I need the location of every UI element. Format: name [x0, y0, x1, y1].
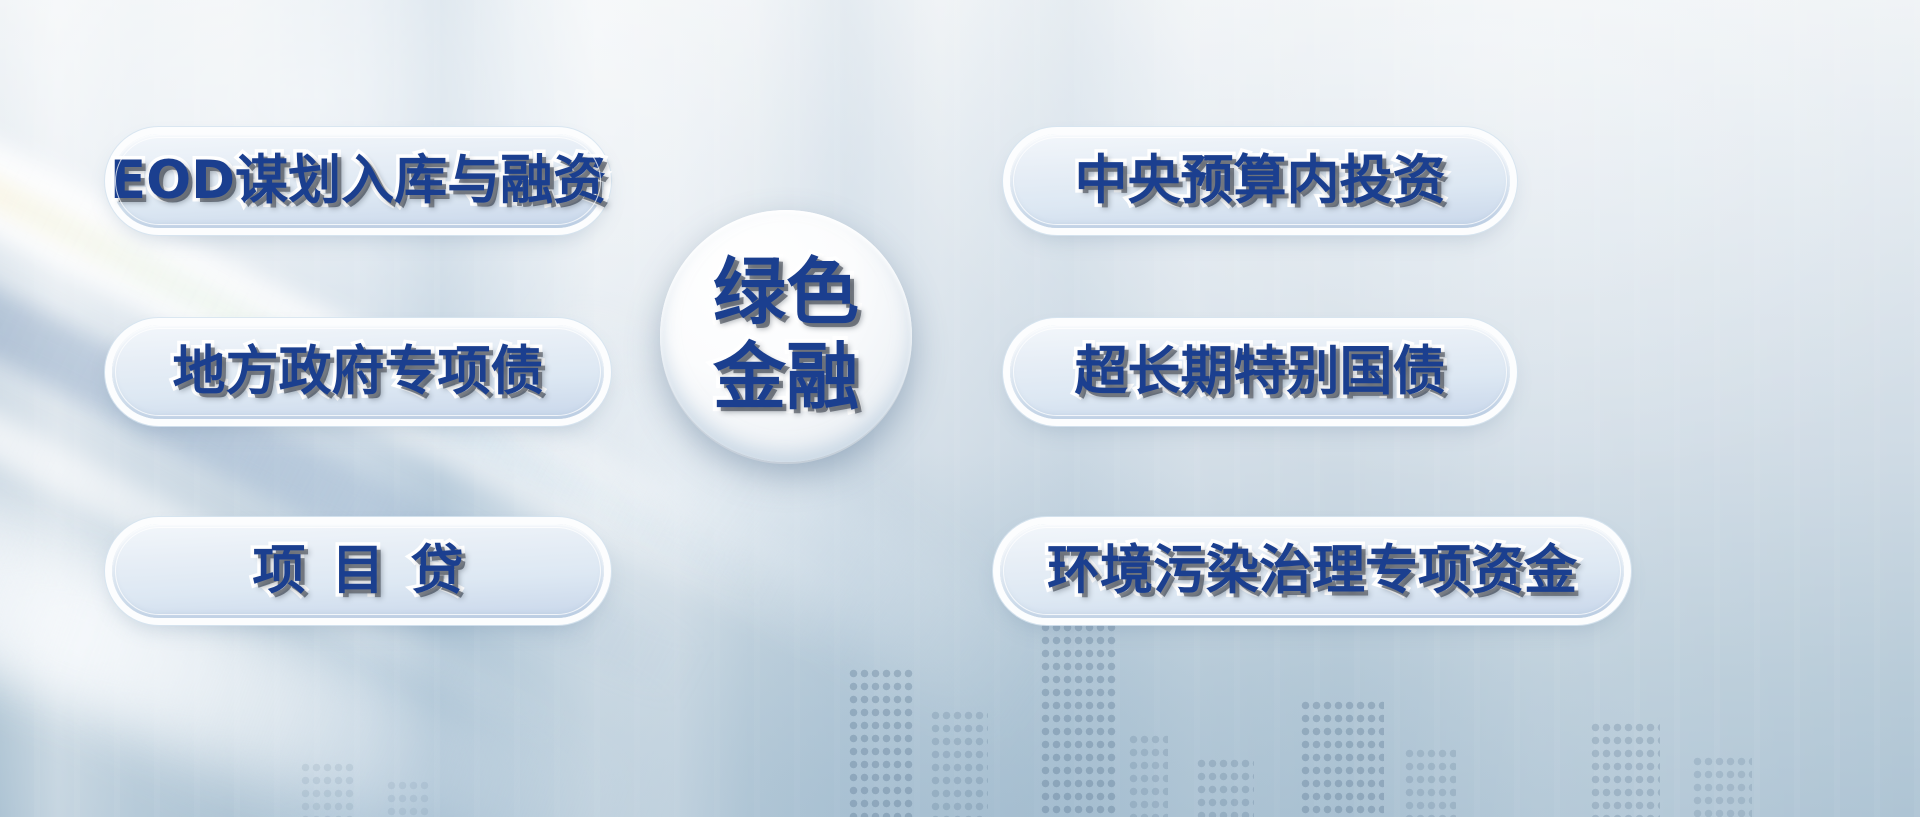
city-skyline-silhouette — [0, 587, 1920, 817]
item-label: 地方政府专项债 — [173, 344, 544, 400]
skyline-tower — [1196, 757, 1254, 817]
item-central-budget-investment[interactable]: 中央预算内投资 — [1010, 134, 1510, 228]
item-label: 超长期特别国债 — [1075, 344, 1446, 400]
skyline-tower — [1590, 721, 1660, 817]
item-ultra-long-term-special-treasury-bond[interactable]: 超长期特别国债 — [1010, 325, 1510, 419]
skyline-tower — [1128, 733, 1168, 817]
center-label-line1: 绿色 — [713, 255, 859, 332]
item-eod-planning-storage-and-financing[interactable]: EOD谋划入库与融资 — [112, 134, 604, 228]
item-label: EOD谋划入库与融资 — [110, 153, 606, 209]
item-label: 中央预算内投资 — [1075, 153, 1446, 209]
skyline-tower — [386, 779, 430, 817]
skyline-tower — [1692, 755, 1752, 817]
skyline-tower — [1404, 747, 1456, 817]
skyline-tower — [1300, 699, 1384, 817]
item-local-government-special-bond[interactable]: 地方政府专项债 — [112, 325, 604, 419]
skyline-tower — [848, 667, 914, 817]
item-environmental-pollution-control-special-fund[interactable]: 环境污染治理专项资金 — [1000, 524, 1624, 618]
skyline-tower — [300, 761, 356, 817]
item-label: 项目贷 — [227, 543, 490, 599]
center-badge-green-finance[interactable]: 绿色 金融 — [660, 210, 912, 462]
item-label: 环境污染治理专项资金 — [1047, 543, 1577, 599]
center-label-line2: 金融 — [713, 340, 859, 417]
skyline-tower — [930, 709, 988, 817]
item-project-loan[interactable]: 项目贷 — [112, 524, 604, 618]
skyline-tower — [1040, 621, 1116, 817]
banner-canvas: EOD谋划入库与融资 地方政府专项债 项目贷 中央预算内投资 超长期特别国债 环… — [0, 0, 1920, 817]
